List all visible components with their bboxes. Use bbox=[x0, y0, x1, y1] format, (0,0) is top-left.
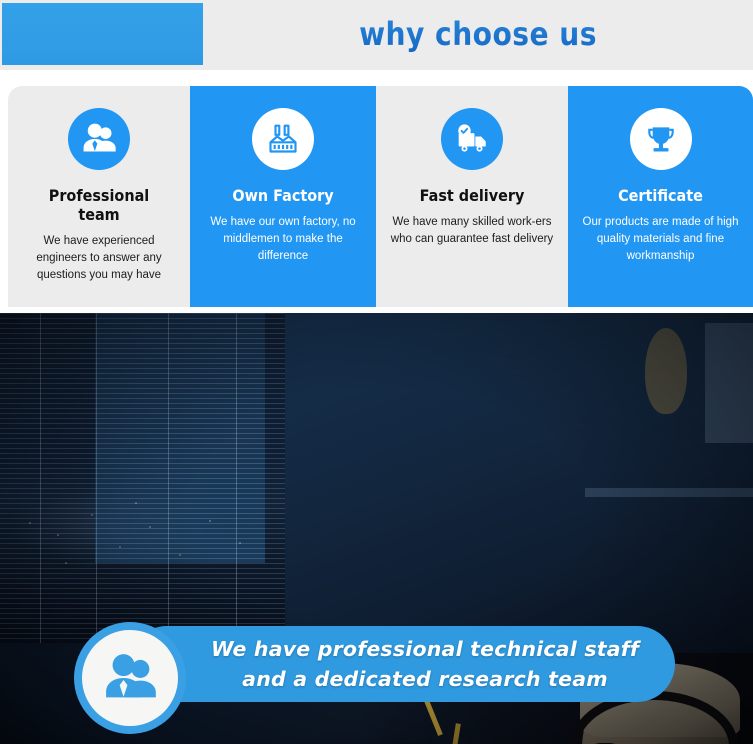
feature-card-certificate[interactable]: Certificate Our products are made of hig… bbox=[568, 86, 753, 307]
why-choose-us-page: why choose us Professional team We have … bbox=[0, 0, 753, 744]
wall-guitar bbox=[645, 328, 687, 414]
header-bar: why choose us bbox=[0, 0, 753, 70]
factory-icon bbox=[252, 108, 314, 170]
blind-cord bbox=[40, 313, 41, 643]
banner-badge bbox=[74, 622, 186, 734]
card-description: We have our own factory, no middlemen to… bbox=[200, 214, 366, 265]
delivery-truck-icon bbox=[441, 108, 503, 170]
back-wall bbox=[285, 313, 753, 653]
trophy-icon bbox=[630, 108, 692, 170]
card-description: We have many skilled work-ers who can gu… bbox=[386, 214, 558, 248]
window-with-blinds bbox=[0, 313, 285, 643]
card-description: Our products are made of high quality ma… bbox=[578, 214, 743, 265]
feature-card-fast-delivery[interactable]: Fast delivery We have many skilled work-… bbox=[376, 86, 568, 307]
bottom-banner: We have professional technical staff and… bbox=[74, 622, 675, 706]
feature-card-professional-team[interactable]: Professional team We have experienced en… bbox=[8, 86, 190, 307]
banner-pill: We have professional technical staff and… bbox=[129, 626, 675, 702]
card-title: Certificate bbox=[586, 186, 735, 205]
header-accent-block bbox=[2, 3, 203, 65]
banner-line-2: and a dedicated research team bbox=[196, 664, 608, 694]
card-title: Professional team bbox=[26, 186, 172, 224]
feature-card-own-factory[interactable]: Own Factory We have our own factory, no … bbox=[190, 86, 376, 307]
team-icon bbox=[68, 108, 130, 170]
blind-cord bbox=[236, 313, 237, 643]
blind-cord bbox=[168, 313, 169, 643]
card-title: Fast delivery bbox=[395, 186, 550, 205]
blind-cord bbox=[96, 313, 97, 643]
window-blinds bbox=[0, 313, 285, 643]
banner-line-1: We have professional technical staff bbox=[165, 634, 639, 664]
card-description: We have experienced engineers to answer … bbox=[18, 233, 180, 284]
page-title: why choose us bbox=[236, 3, 720, 65]
wall-shelf bbox=[585, 488, 753, 497]
feature-cards: Professional team We have experienced en… bbox=[0, 86, 753, 307]
team-icon bbox=[82, 630, 178, 726]
wall-poster bbox=[705, 323, 753, 443]
card-title: Own Factory bbox=[208, 186, 357, 205]
